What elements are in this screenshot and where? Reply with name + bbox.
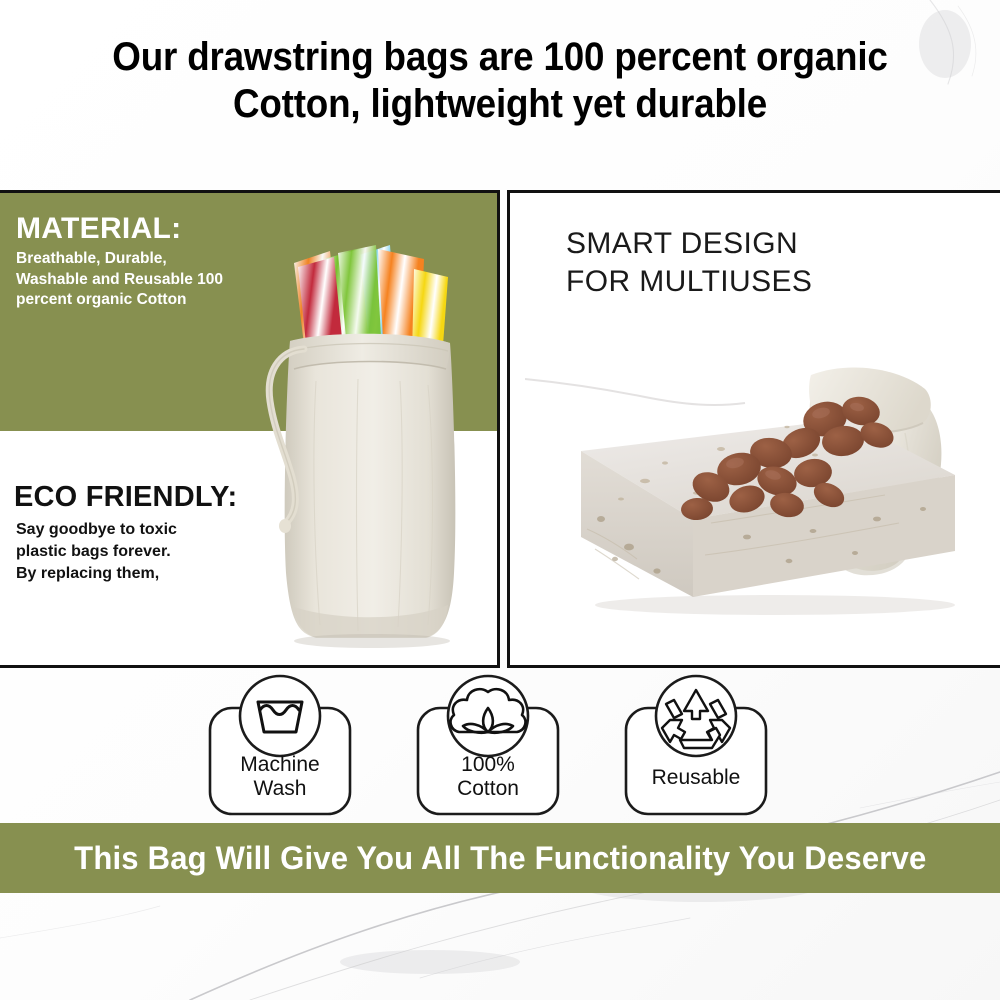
panel-material-eco: MATERIAL: Breathable, Durable, Washable …: [0, 190, 500, 668]
bottom-banner: This Bag Will Give You All The Functiona…: [0, 823, 1000, 893]
infographic-canvas: Our drawstring bags are 100 percent orga…: [0, 0, 1000, 1000]
stone-slab-bag-photo: [525, 323, 1000, 668]
page-title: Our drawstring bags are 100 percent orga…: [40, 34, 960, 128]
badge-label-cotton: 100% Cotton: [388, 753, 588, 800]
material-body: Breathable, Durable, Washable and Reusab…: [16, 249, 281, 311]
smart-design-heading: SMART DESIGN FOR MULTIUSES: [566, 225, 812, 302]
badge-machine-wash[interactable]: Machine Wash: [180, 672, 380, 822]
badge-reusable[interactable]: Reusable: [596, 672, 796, 822]
eco-friendly-heading: ECO FRIENDLY:: [14, 481, 237, 514]
care-badges-row: Machine Wash 100% Cotton: [0, 672, 1000, 822]
eco-friendly-body: Say goodbye to toxic plastic bags foreve…: [16, 519, 266, 586]
bottom-banner-text: This Bag Will Give You All The Functiona…: [74, 840, 926, 877]
badge-label-machine-wash: Machine Wash: [180, 753, 380, 800]
badge-cotton[interactable]: 100% Cotton: [388, 672, 588, 822]
material-heading: MATERIAL:: [16, 212, 181, 246]
panel-smart-design: SMART DESIGN FOR MULTIUSES: [507, 190, 1000, 668]
badge-label-reusable: Reusable: [596, 766, 796, 790]
